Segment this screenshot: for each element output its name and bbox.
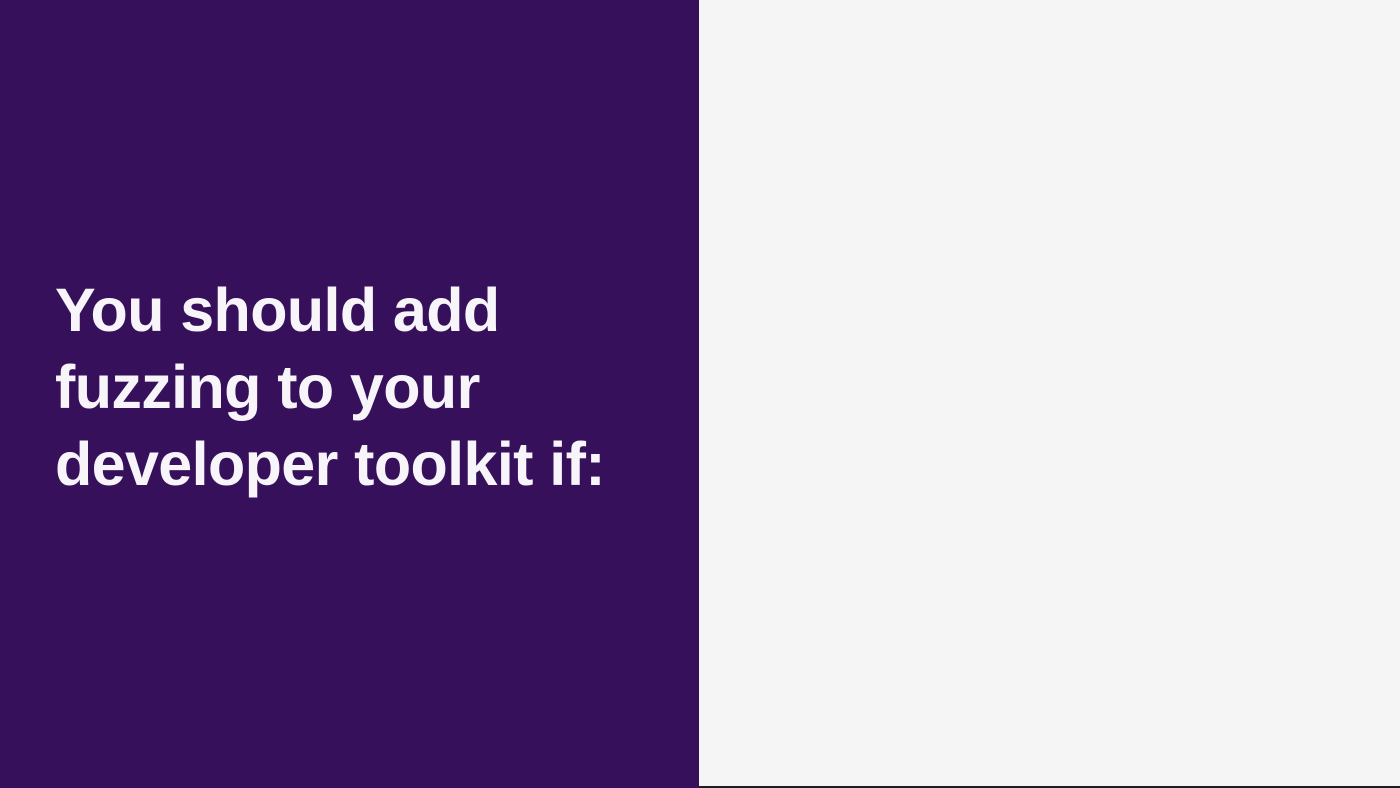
- left-title-panel: You should add fuzzing to your developer…: [0, 0, 699, 788]
- slide: You should add fuzzing to your developer…: [0, 0, 1400, 788]
- page-title: You should add fuzzing to your developer…: [55, 272, 665, 503]
- right-content-panel: [699, 0, 1400, 788]
- heading-block: You should add fuzzing to your developer…: [55, 272, 665, 503]
- right-content-area: [699, 0, 1400, 786]
